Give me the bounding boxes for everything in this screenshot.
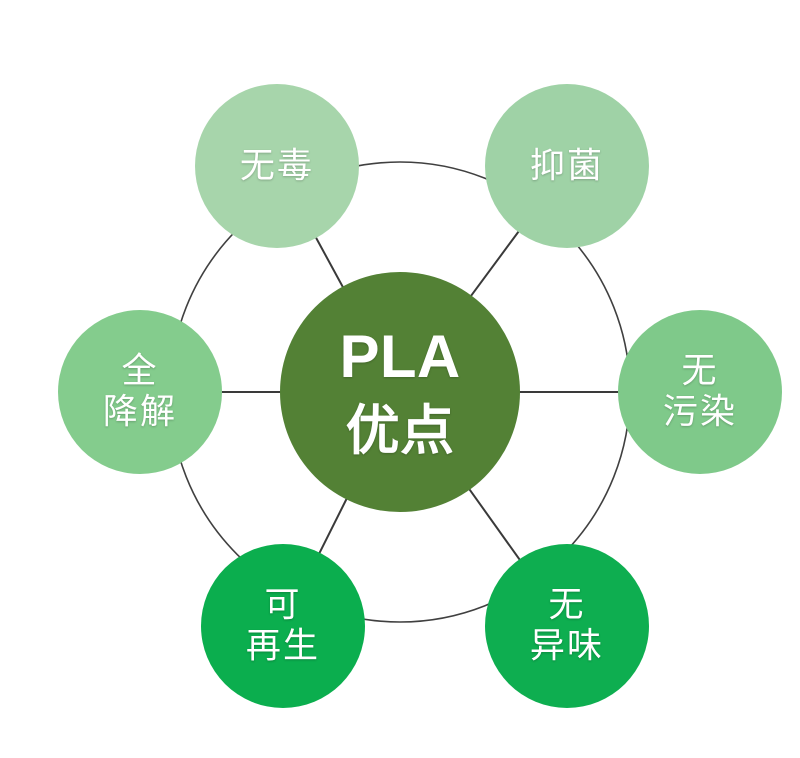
spoke-renewable (318, 496, 348, 556)
spoke-no-odor (467, 486, 521, 562)
diagram-canvas (0, 0, 800, 758)
satellite-circle-no-pollution[interactable] (618, 310, 782, 474)
satellite-circle-no-odor[interactable] (485, 544, 649, 708)
spoke-antibacterial (469, 229, 521, 299)
satellite-circle-antibacterial[interactable] (485, 84, 649, 248)
hub-circle (280, 272, 520, 512)
hub-circle-pla[interactable] (280, 272, 520, 512)
satellite-circle-fully-degradable[interactable] (58, 310, 222, 474)
spoke-non-toxic (314, 235, 344, 291)
satellite-circle-renewable[interactable] (201, 544, 365, 708)
satellite-circle-non-toxic[interactable] (195, 84, 359, 248)
pla-advantages-diagram: 无毒抑菌无污染无异味可再生全降解PLA优点 (0, 0, 800, 758)
